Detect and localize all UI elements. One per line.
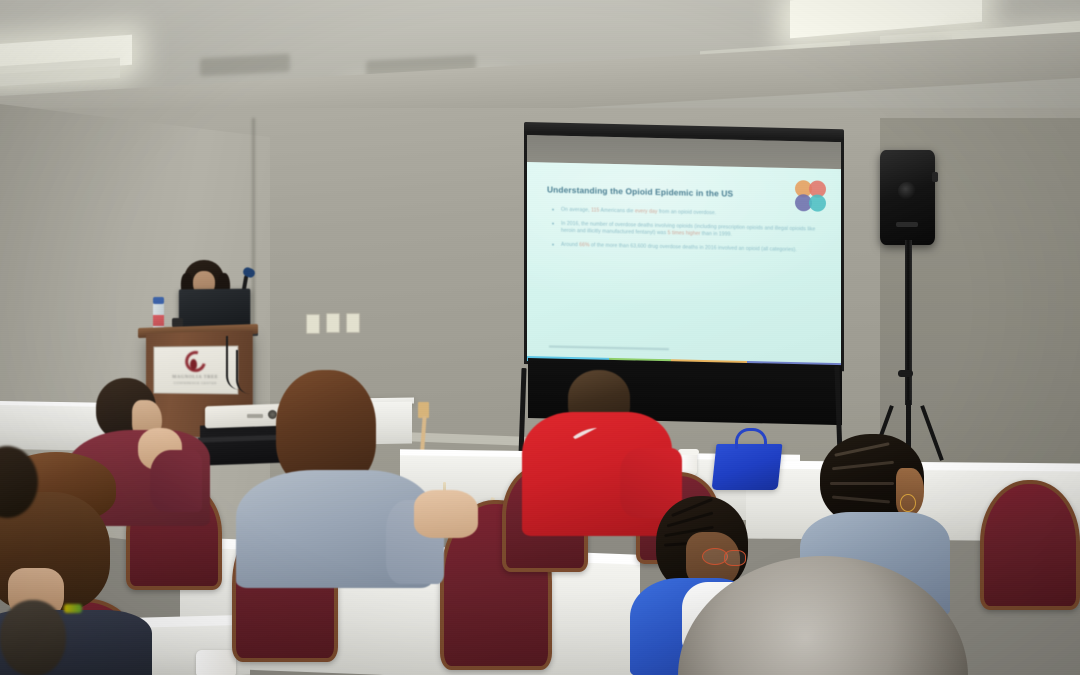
- tote-bag-handle: [735, 428, 767, 449]
- slide-body-text: Around: [561, 242, 579, 248]
- cup-front-table: [196, 650, 236, 675]
- conference-room-scene: Understanding the Opioid Epidemic in the…: [0, 0, 1080, 675]
- water-bottle-label: [153, 315, 164, 326]
- slide-body-text: from an opioid overdose.: [657, 209, 716, 216]
- ceiling-stain: [200, 54, 290, 77]
- slide-highlight-text: 66%: [579, 242, 589, 248]
- presentation-slide: Understanding the Opioid Epidemic in the…: [527, 162, 841, 368]
- attendee-gray-sweater-brown-hair: [236, 370, 436, 570]
- gray-hair-head: [678, 556, 968, 675]
- speaker-handle: [932, 172, 938, 182]
- attendee-writing-hand: [414, 490, 478, 538]
- nike-swoosh-icon: [572, 428, 598, 440]
- coffee-cup-lid: [678, 449, 699, 455]
- slide-highlight-text: every day: [635, 208, 658, 215]
- projection-screen-assembly: Understanding the Opioid Epidemic in the…: [524, 122, 844, 368]
- attendee-far-left-edge: [0, 446, 56, 606]
- slide-bullet-item: Around 66% of the more than 63,600 drug …: [548, 241, 816, 254]
- attendee-foreground-gray-hair: [668, 556, 998, 675]
- slide-bullet-item: On average, 115 Americans die every day …: [548, 206, 816, 219]
- slide-highlight-text: 5 times higher: [668, 230, 701, 237]
- braid-line: [830, 482, 894, 485]
- wall-outlet-left: [306, 314, 320, 334]
- wall-outlet-center: [326, 313, 340, 333]
- small-colored-object: [64, 604, 82, 613]
- podium-emblem-icon: [181, 351, 205, 371]
- pa-speaker: [880, 150, 935, 245]
- slide-body-text: of the more than 63,600 drug overdose de…: [590, 242, 797, 253]
- speaker-horn: [896, 222, 918, 227]
- slide-body-text: On average,: [561, 207, 591, 214]
- slide-body-text: Americans die: [599, 208, 635, 215]
- attendee-head: [0, 600, 66, 675]
- gold-hoop-earring: [900, 494, 916, 512]
- logo-petal-bottom-right: [809, 194, 826, 211]
- slide-title: Understanding the Opioid Epidemic in the…: [547, 184, 797, 200]
- water-bottle-cap: [153, 297, 164, 304]
- blue-tote-bag: [712, 444, 783, 490]
- slide-body-text: than in 1999.: [700, 231, 732, 238]
- four-petal-flower-logo: [795, 180, 828, 214]
- slide-bullet-item: In 2016, the number of overdose deaths i…: [548, 221, 816, 240]
- attendee-hair: [0, 446, 38, 518]
- slide-source-footnote: [549, 345, 669, 350]
- wall-outlet-right: [346, 313, 360, 333]
- slide-bullet-list: On average, 115 Americans die every day …: [548, 206, 816, 261]
- speaker-cone: [898, 182, 916, 200]
- speaker-stand-pole: [905, 240, 912, 405]
- projection-screen-surface: Understanding the Opioid Epidemic in the…: [527, 135, 841, 368]
- attendee-forearm: [150, 450, 202, 512]
- attendee-lower-left-edge: [0, 600, 70, 675]
- speaker-stand-knob: [898, 370, 913, 377]
